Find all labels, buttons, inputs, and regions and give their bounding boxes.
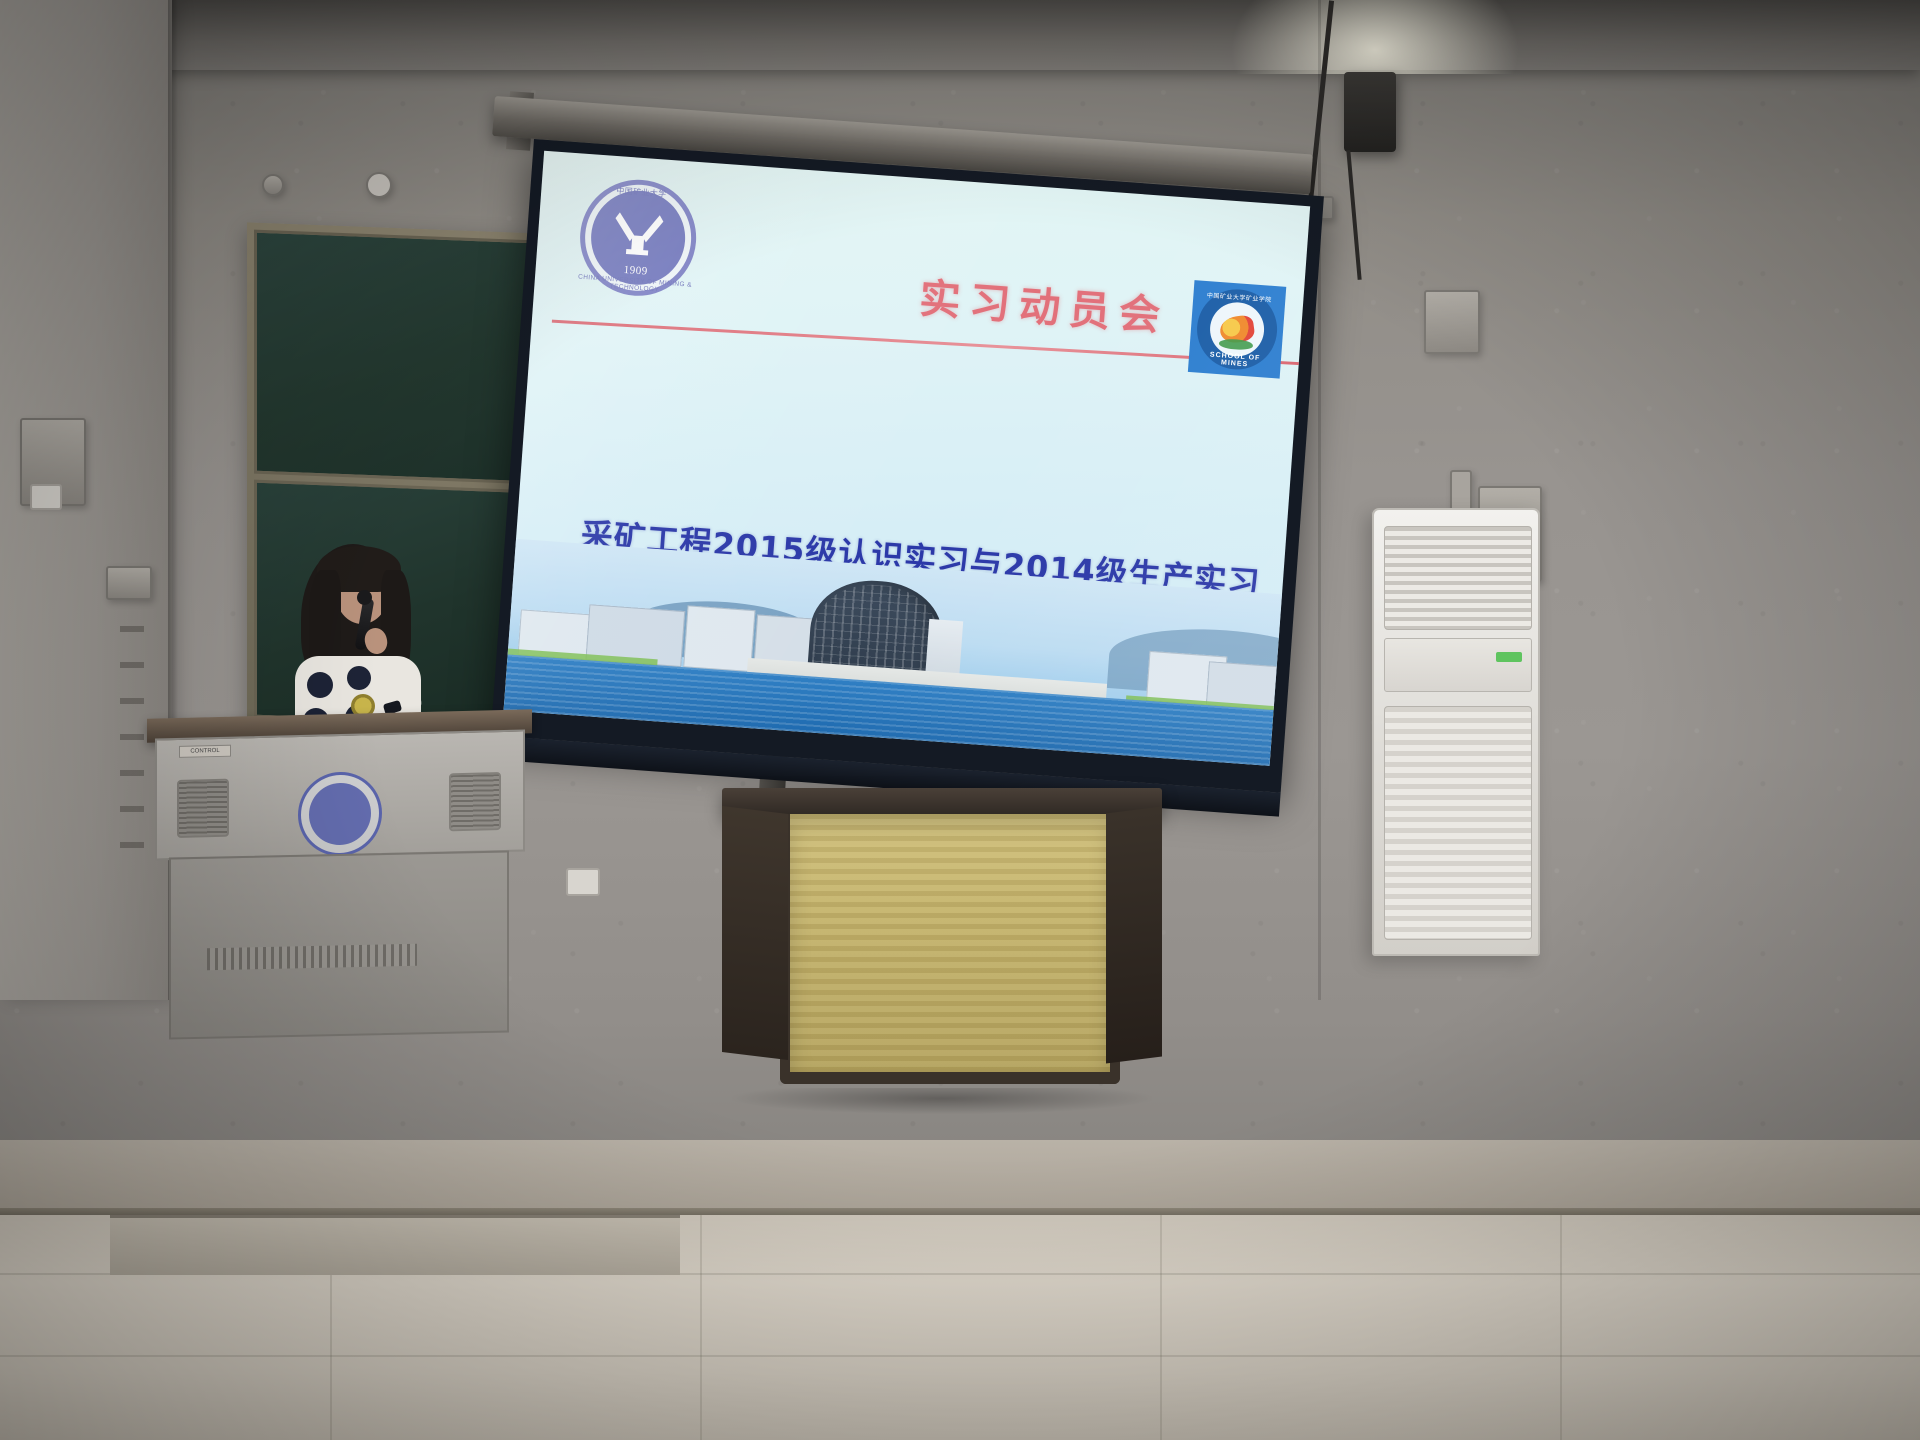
lectern-shadow: [732, 1088, 1152, 1114]
podium-vent: [207, 944, 417, 970]
wall-speaker: [1344, 72, 1396, 152]
wall-box-right: [1424, 290, 1480, 354]
podium-speaker-left: [177, 779, 229, 838]
mines-logo-bottom-text: SCHOOL OF MINES: [1194, 350, 1275, 370]
lectern[interactable]: [722, 788, 1162, 1118]
school-of-mines-logo-icon: 中国矿业大学矿业学院 SCHOOL OF MINES: [1188, 280, 1286, 378]
ac-top-grille: [1384, 526, 1532, 630]
screen-surface: 中国矿业大学 1909 CHINA UNIVERSITY OF MINING &…: [504, 151, 1311, 766]
presentation-slide: 中国矿业大学 1909 CHINA UNIVERSITY OF MINING &…: [504, 151, 1311, 766]
lecture-hall-scene: 中国矿业大学 1909 CHINA UNIVERSITY OF MINING &…: [0, 0, 1920, 1440]
cumt-logo-icon: 中国矿业大学 1909 CHINA UNIVERSITY OF MINING &…: [576, 176, 700, 300]
podium[interactable]: CONTROL: [147, 714, 532, 1036]
lectern-right-side: [1106, 807, 1162, 1064]
wall-pipe-brackets: [120, 560, 144, 860]
ac-lower-vent: [1384, 706, 1532, 940]
wall-outlet-left[interactable]: [30, 484, 62, 510]
ceiling-beam: [0, 0, 1920, 70]
wall-switch-box[interactable]: [106, 566, 152, 600]
stage-riser: [110, 1215, 680, 1275]
wall-sensor-icon: [366, 172, 392, 198]
lectern-left-side: [722, 806, 788, 1060]
podium-body: CONTROL: [155, 729, 525, 860]
podium-speaker-right: [449, 772, 501, 831]
lectern-front-panel: [780, 814, 1120, 1084]
wall-seam: [1318, 0, 1321, 1000]
projection-screen[interactable]: 中国矿业大学 1909 CHINA UNIVERSITY OF MINING &…: [491, 139, 1324, 793]
wall-knob: [262, 174, 284, 196]
podium-cumt-logo-icon: [298, 771, 382, 857]
cumt-year-text: 1909: [623, 264, 648, 278]
presenter: [293, 536, 423, 736]
ac-status-led: [1496, 652, 1522, 662]
crossed-hammers-icon: [609, 208, 668, 258]
air-conditioner[interactable]: [1372, 508, 1540, 956]
wood-grain-texture: [790, 814, 1110, 1072]
podium-control-label: CONTROL: [179, 745, 231, 758]
floor-outlet[interactable]: [566, 868, 600, 896]
ac-control-panel[interactable]: [1384, 638, 1532, 692]
chalkboard-panel-upper: [254, 230, 536, 485]
